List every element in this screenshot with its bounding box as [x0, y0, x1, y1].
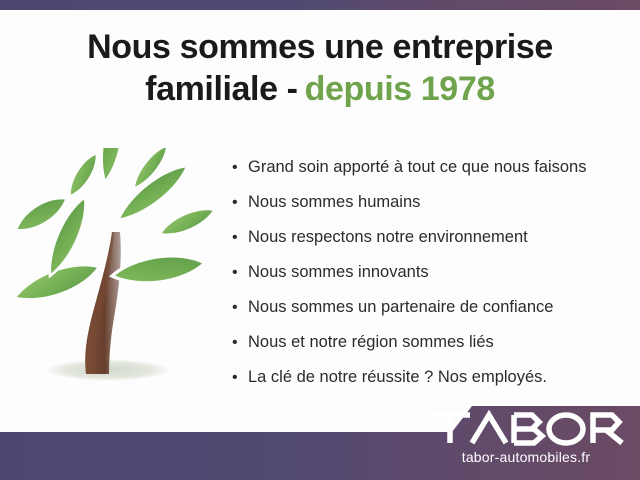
- bullet-icon: •: [232, 255, 238, 290]
- list-item: • Grand soin apporté à tout ce que nous …: [228, 150, 628, 185]
- bullet-icon: •: [232, 185, 238, 220]
- list-item: • La clé de notre réussite ? Nos employé…: [228, 360, 628, 395]
- bullet-icon: •: [232, 325, 238, 360]
- page-title: Nous sommes une entreprise familiale -de…: [0, 26, 640, 110]
- leaf-5: [96, 148, 128, 184]
- tabor-wordmark-icon: [426, 410, 626, 446]
- bullet-icon: •: [232, 220, 238, 255]
- list-item-label: Nous respectons notre environnement: [248, 228, 528, 246]
- list-item-label: Nous et notre région sommes liés: [248, 333, 494, 351]
- list-item: • Nous sommes innovants: [228, 255, 628, 290]
- page-title-line-2: familiale -depuis 1978: [0, 68, 640, 110]
- list-item: • Nous sommes un partenaire de confiance: [228, 290, 628, 325]
- footer-bar: tabor-automobiles.fr: [0, 400, 640, 480]
- page-title-line-1: Nous sommes une entreprise: [0, 26, 640, 68]
- leaf-9: [110, 250, 207, 288]
- page-title-line-2-plain: familiale -: [145, 70, 297, 108]
- page-title-accent: depuis 1978: [305, 70, 495, 108]
- family-tree-illustration: [8, 148, 213, 393]
- top-accent-strip: [0, 0, 640, 10]
- values-list: • Grand soin apporté à tout ce que nous …: [228, 150, 628, 395]
- list-item-label: Nous sommes humains: [248, 193, 420, 211]
- tree-svg: [8, 148, 213, 393]
- brand-logo[interactable]: tabor-automobiles.fr: [426, 410, 626, 465]
- bullet-icon: •: [232, 290, 238, 325]
- brand-tagline: tabor-automobiles.fr: [426, 449, 626, 465]
- list-item-label: Grand soin apporté à tout ce que nous fa…: [248, 158, 586, 176]
- list-item-label: Nous sommes innovants: [248, 263, 429, 281]
- bullet-icon: •: [232, 150, 238, 185]
- leaf-8: [157, 203, 213, 242]
- list-item: • Nous respectons notre environnement: [228, 220, 628, 255]
- list-item: • Nous et notre région sommes liés: [228, 325, 628, 360]
- list-item-label: La clé de notre réussite ? Nos employés.: [248, 368, 547, 386]
- bullet-icon: •: [232, 360, 238, 395]
- leaf-4: [64, 150, 102, 200]
- list-item-label: Nous sommes un partenaire de confiance: [248, 298, 553, 316]
- list-item: • Nous sommes humains: [228, 185, 628, 220]
